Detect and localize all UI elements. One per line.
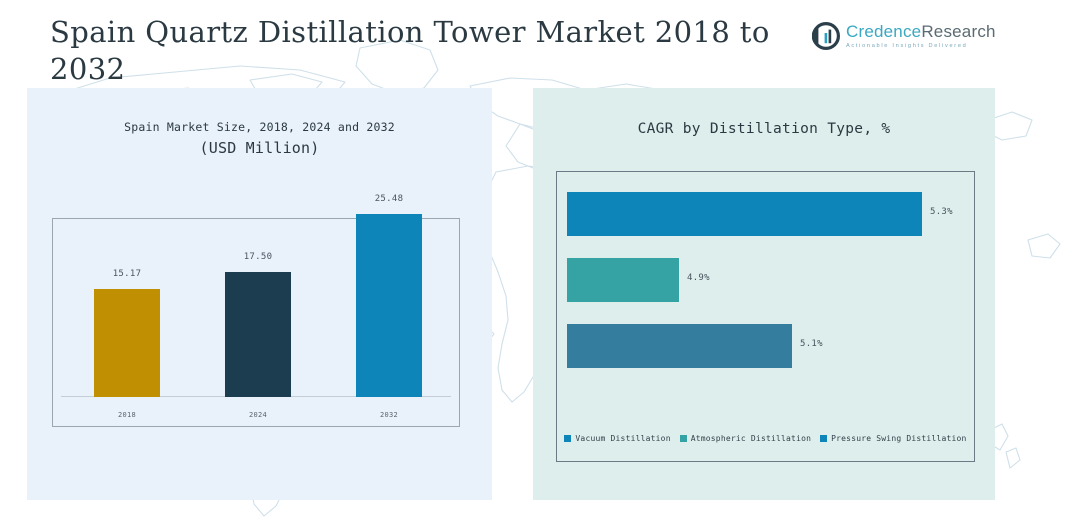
legend-item-label: Vacuum Distillation xyxy=(575,434,670,443)
bar-chart-circle-logo-icon xyxy=(812,22,840,50)
horizontal-bar-plot-area: 5.3% 4.9% 5.1% Vacuum Distillation Atmos… xyxy=(557,172,974,461)
bar-row-atmospheric-distillation: 4.9% xyxy=(567,258,967,302)
legend-swatch-icon xyxy=(820,435,827,442)
table-row[interactable] xyxy=(356,214,422,397)
brand-name-primary: Credence xyxy=(846,22,921,41)
legend-item-atmospheric-distillation[interactable]: Atmospheric Distillation xyxy=(680,434,811,443)
legend-item-pressure-swing-distillation[interactable]: Pressure Swing Distillation xyxy=(820,434,966,443)
bar-value-label: 25.48 xyxy=(344,194,434,204)
page-title: Spain Quartz Distillation Tower Market 2… xyxy=(50,14,810,88)
left-panel-subtitle: (USD Million) xyxy=(27,139,492,157)
brand-name-secondary: Research xyxy=(921,22,995,41)
table-row[interactable] xyxy=(225,272,291,397)
bar-value-label: 17.50 xyxy=(213,252,303,262)
left-panel-title: Spain Market Size, 2018, 2024 and 2032 xyxy=(27,120,492,134)
cagr-bar-chart: 5.3% 4.9% 5.1% Vacuum Distillation Atmos… xyxy=(556,171,975,462)
page-header: Spain Quartz Distillation Tower Market 2… xyxy=(0,0,1072,88)
bar-value-label: 15.17 xyxy=(82,269,172,279)
bar-category-label: 2018 xyxy=(82,411,172,419)
brand-tagline: Actionable Insights Delivered xyxy=(846,44,996,50)
bar-value-label: 5.3% xyxy=(930,207,953,217)
bar-value-label: 4.9% xyxy=(687,273,710,283)
bar-category-label: 2032 xyxy=(344,411,434,419)
vertical-bar-plot-area: 15.17 2018 17.50 2024 25.48 2032 xyxy=(53,219,459,426)
chart-legend: Vacuum Distillation Atmospheric Distilla… xyxy=(557,434,974,443)
right-panel-title: CAGR by Distillation Type, % xyxy=(533,121,995,137)
brand-logo: CredenceResearch Actionable Insights Del… xyxy=(812,22,996,50)
bar-value-label: 5.1% xyxy=(800,339,823,349)
table-row[interactable] xyxy=(567,192,922,236)
bar-row-vacuum-distillation: 5.3% xyxy=(567,192,967,236)
table-row[interactable] xyxy=(567,324,792,368)
legend-swatch-icon xyxy=(564,435,571,442)
bar-row-pressure-swing-distillation: 5.1% xyxy=(567,324,967,368)
table-row[interactable] xyxy=(567,258,679,302)
table-row[interactable] xyxy=(94,289,160,397)
left-chart-panel: Spain Market Size, 2018, 2024 and 2032 (… xyxy=(27,88,492,500)
brand-logo-text: CredenceResearch Actionable Insights Del… xyxy=(846,23,996,50)
legend-swatch-icon xyxy=(680,435,687,442)
legend-item-label: Pressure Swing Distillation xyxy=(831,434,966,443)
legend-item-vacuum-distillation[interactable]: Vacuum Distillation xyxy=(564,434,670,443)
right-chart-panel: CAGR by Distillation Type, % 5.3% 4.9% 5… xyxy=(533,88,995,500)
legend-item-label: Atmospheric Distillation xyxy=(691,434,811,443)
bar-category-label: 2024 xyxy=(213,411,303,419)
brand-name: CredenceResearch xyxy=(846,23,996,40)
market-size-bar-chart: 15.17 2018 17.50 2024 25.48 2032 xyxy=(52,218,460,427)
